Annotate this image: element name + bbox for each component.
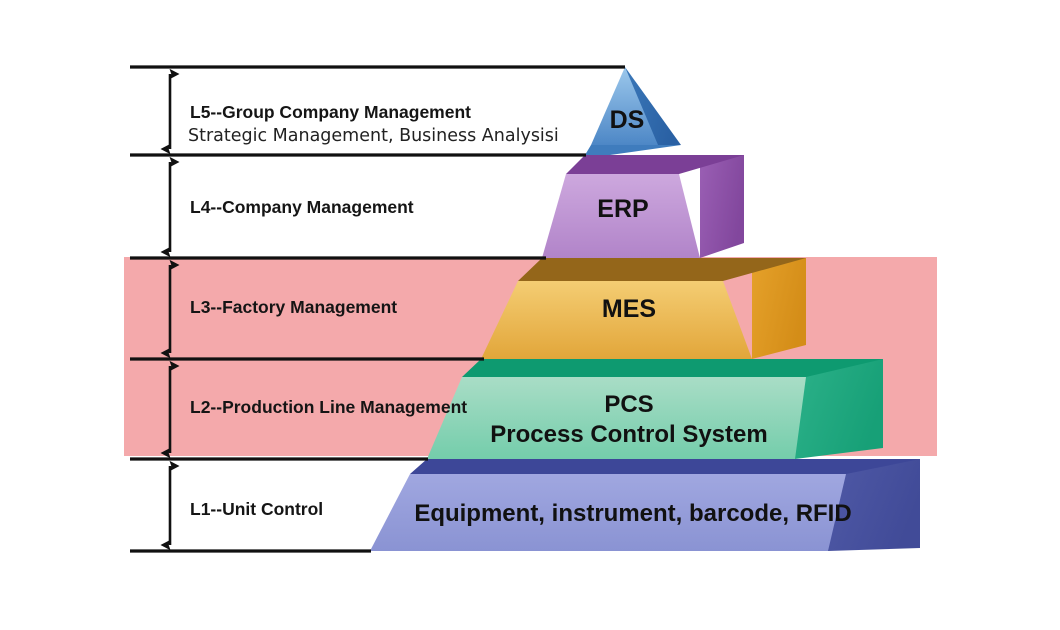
tier-erp-label: ERP	[597, 195, 648, 223]
tier-l1[interactable]: Equipment, instrument, barcode, RFID	[370, 459, 920, 551]
tier-l1-cap-band	[410, 459, 920, 474]
tier-mes-side	[752, 258, 806, 359]
diagram-canvas: Equipment, instrument, barcode, RFID PCS…	[0, 0, 1060, 630]
tier-pcs-label: PCS	[604, 391, 653, 418]
tier-mes-label: MES	[602, 295, 656, 323]
automation-pyramid-diagram: Equipment, instrument, barcode, RFID PCS…	[0, 0, 1060, 630]
tier-erp[interactable]: ERP	[542, 155, 744, 258]
level-l4-title: L4--Company Management	[190, 197, 414, 217]
tier-pcs-sublabel: Process Control System	[490, 421, 767, 448]
tier-ds-label: DS	[610, 106, 645, 134]
tier-mes[interactable]: MES	[481, 258, 806, 359]
level-l1-title: L1--Unit Control	[190, 499, 323, 519]
tier-pcs[interactable]: PCS Process Control System	[427, 359, 883, 459]
level-l5-title: L5--Group Company Management	[190, 102, 471, 122]
tier-ds-base	[585, 145, 681, 155]
tier-ds[interactable]: DS	[585, 67, 681, 155]
tier-erp-side	[700, 155, 744, 258]
level-l3-title: L3--Factory Management	[190, 297, 397, 317]
tier-l1-label: Equipment, instrument, barcode, RFID	[414, 500, 851, 527]
level-l5-subtitle: Strategic Management, Business Analysisi	[188, 126, 559, 146]
level-label-l5: L5--Group Company Management Strategic M…	[188, 102, 559, 146]
level-l2-title: L2--Production Line Management	[190, 397, 467, 417]
